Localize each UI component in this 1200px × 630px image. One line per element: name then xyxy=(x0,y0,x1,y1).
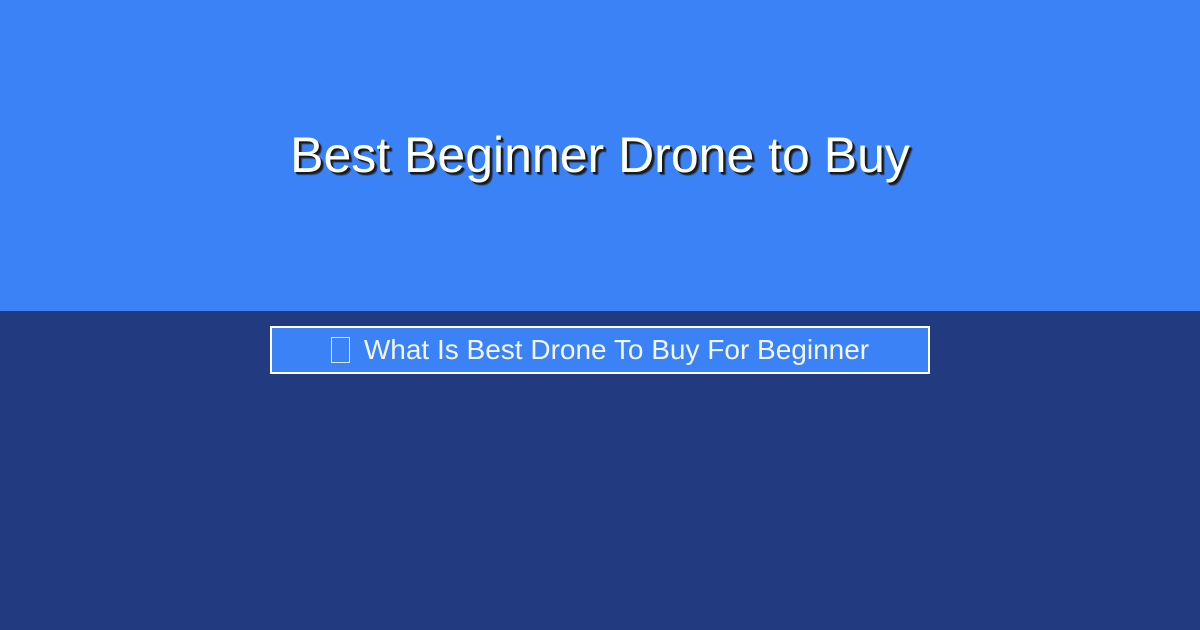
query-pill-label: What Is Best Drone To Buy For Beginner xyxy=(364,336,869,364)
missing-glyph-box-icon xyxy=(331,337,350,363)
thumbnail-card: Best Beginner Drone to Buy What Is Best … xyxy=(0,0,1200,630)
query-pill-button[interactable]: What Is Best Drone To Buy For Beginner xyxy=(270,326,930,374)
query-pill-container: What Is Best Drone To Buy For Beginner xyxy=(0,326,1200,374)
headline-container: Best Beginner Drone to Buy xyxy=(0,0,1200,311)
page-title: Best Beginner Drone to Buy xyxy=(290,128,910,183)
